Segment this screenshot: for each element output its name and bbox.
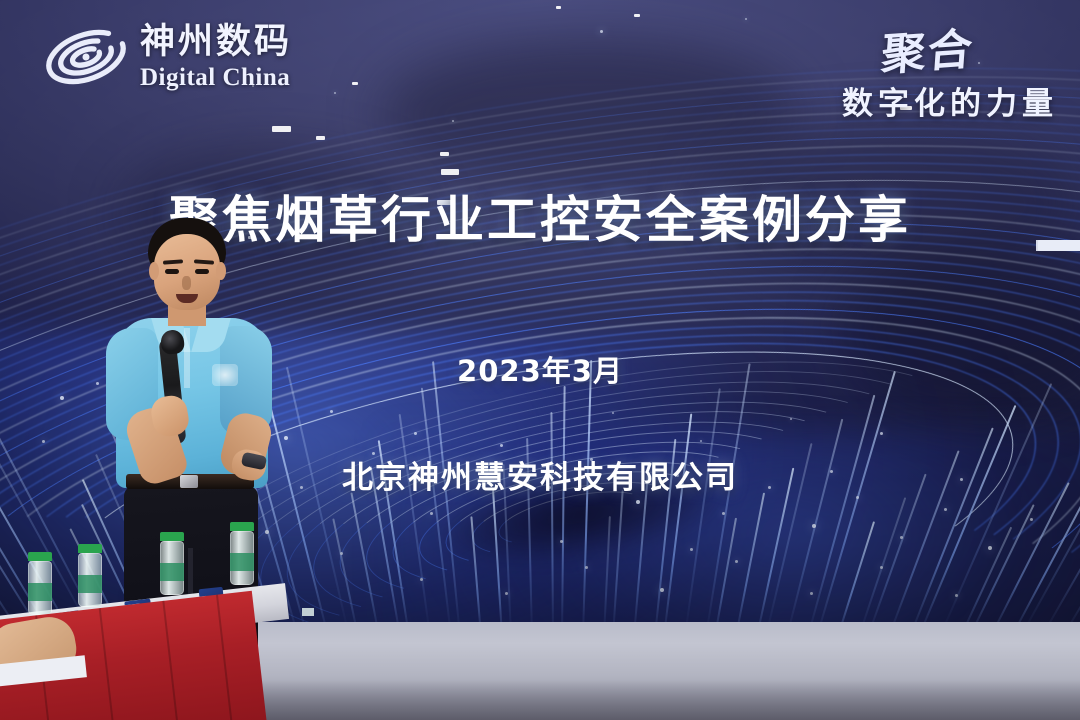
speaker-eye-right [195,269,209,274]
wave-streak [350,492,380,624]
light-particle [500,444,503,447]
light-particle [944,508,947,511]
light-dash [556,6,561,9]
wave-streak [612,490,624,624]
speaker-shirt-placket [184,328,190,388]
wave-streak [837,521,875,624]
bottle-label [230,553,254,571]
speaker-figure [96,218,286,638]
bottle-label [160,563,184,581]
light-particle [414,432,417,435]
light-particle [880,566,883,569]
light-particle [600,30,603,33]
light-dash [272,126,291,132]
brand-name-en: Digital China [140,65,292,90]
bottle-cap [78,544,102,553]
wave-streak [470,516,482,624]
speaker-nose [182,276,191,290]
water-bottle [28,552,52,615]
wave-streak [969,504,1035,624]
light-particle [745,18,747,20]
light-particle [790,418,792,420]
light-particle [42,440,45,443]
conference-stage-photo: 神州数码 Digital China 聚合 数字化的力量 聚焦烟草行业工控安全案… [0,0,1080,720]
wave-streak [561,386,566,624]
bottle-body [78,553,102,607]
water-bottle [160,532,184,595]
light-particle [452,120,454,122]
light-particle [700,440,702,442]
shirt-logo-icon [212,364,238,386]
water-bottle [78,544,102,607]
light-particle [722,512,725,515]
light-dash [440,152,449,156]
light-particle [1030,518,1033,521]
light-particle [560,540,563,543]
water-bottle [230,522,254,585]
light-dash [634,14,640,17]
light-particle [955,594,958,597]
light-particle [810,592,813,595]
speaker-eye-left [165,269,179,274]
digital-china-swirl-icon [42,20,130,94]
bottle-body [230,531,254,585]
bottle-cap [230,522,254,531]
light-particle [636,500,640,504]
bottle-cap [160,532,184,541]
light-dash [352,82,358,85]
light-particle [690,548,693,551]
brand-name-cn: 神州数码 [140,25,292,60]
event-logo-calligraphy: 聚合 [879,13,976,83]
bottle-body [160,541,184,595]
light-particle [585,566,588,569]
light-particle [660,588,664,592]
bottle-neck [302,608,314,616]
speaker-ear-right [216,262,226,280]
light-particle [330,410,333,413]
light-particle [340,552,343,555]
bottle-cap [28,552,52,561]
light-dash [441,169,459,175]
light-particle [988,546,992,550]
digital-china-logo: 神州数码 Digital China [42,20,292,94]
bottle-label [78,575,102,593]
event-logo-tagline: 数字化的力量 [842,78,1058,123]
speaker-belt-buckle [180,475,198,488]
light-particle [735,560,738,563]
light-particle [612,412,614,414]
event-logo: 聚合 数字化的力量 [842,16,1058,123]
light-particle [812,524,816,528]
light-particle [430,512,433,515]
light-particle [420,578,423,581]
light-dash [316,136,325,140]
wave-streak [735,493,765,624]
light-particle [900,536,903,539]
wave-streak [332,518,359,624]
wave-streak [714,518,737,624]
wave-streak [492,490,503,624]
wave-streak [399,414,431,624]
light-particle [505,592,508,595]
light-particle [880,432,883,435]
light-particle [334,92,336,94]
wave-streak [603,516,611,624]
bottle-body [28,561,52,615]
wave-streak [550,412,554,624]
speaker-ear-left [149,262,159,280]
light-particle [60,396,64,400]
bottle-label [28,583,52,601]
wave-streak [786,419,843,624]
